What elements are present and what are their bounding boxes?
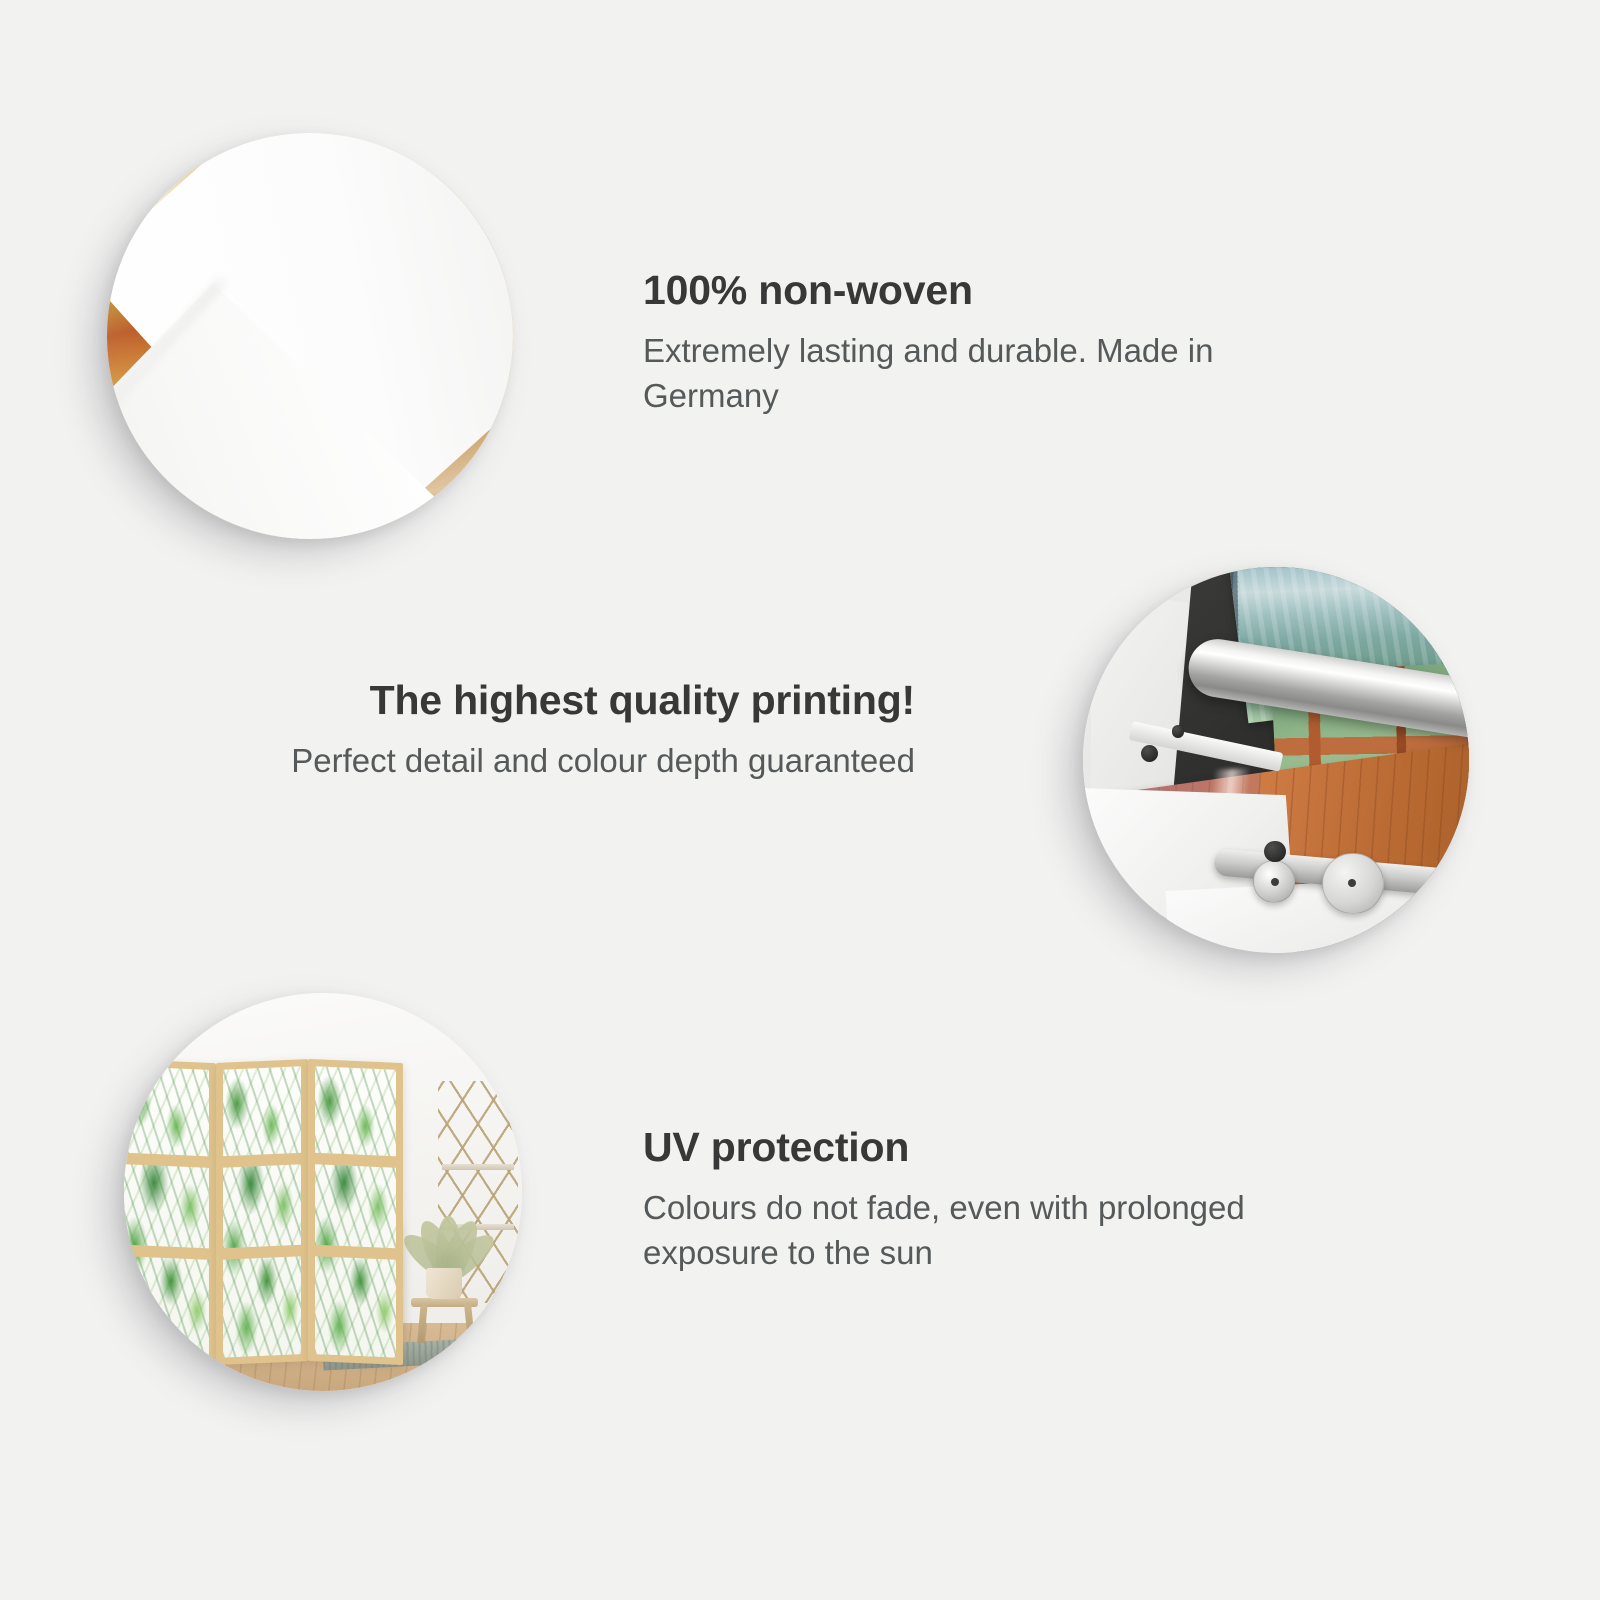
tropical-room-divider-photo	[124, 993, 522, 1391]
feature-description: Extremely lasting and durable. Made in G…	[643, 329, 1323, 419]
press-knob-mid	[1141, 745, 1158, 762]
feature-description: Colours do not fade, even with prolonged…	[643, 1186, 1283, 1276]
feature-text-uv-protection: UV protection Colours do not fade, even …	[643, 1125, 1283, 1276]
press-wheel-large	[1322, 853, 1384, 915]
feature-title: UV protection	[643, 1125, 1283, 1170]
feature-title: 100% non-woven	[643, 268, 1323, 313]
feature-image-uv-protection	[124, 993, 522, 1391]
feature-image-non-woven	[107, 133, 513, 539]
press-wheel-small	[1253, 860, 1295, 902]
divider-panel	[124, 1058, 216, 1365]
shelf-board-upper	[442, 1164, 514, 1170]
feature-text-printing: The highest quality printing! Perfect de…	[255, 678, 915, 784]
printing-press-photo	[1083, 567, 1469, 953]
feature-title: The highest quality printing!	[255, 678, 915, 723]
divider-panel	[308, 1059, 403, 1366]
peeling-wallpaper-sheet-photo	[107, 133, 513, 539]
press-knob-rear	[1172, 725, 1184, 737]
divider-panel	[216, 1059, 308, 1365]
folding-room-divider	[124, 1061, 403, 1363]
feature-description: Perfect detail and colour depth guarante…	[255, 739, 915, 784]
press-knob-front	[1264, 841, 1285, 862]
plant-pot	[426, 1268, 462, 1300]
feature-image-printing	[1083, 567, 1469, 953]
feature-text-non-woven: 100% non-woven Extremely lasting and dur…	[643, 268, 1323, 419]
infographic-canvas: 100% non-woven Extremely lasting and dur…	[0, 0, 1600, 1600]
